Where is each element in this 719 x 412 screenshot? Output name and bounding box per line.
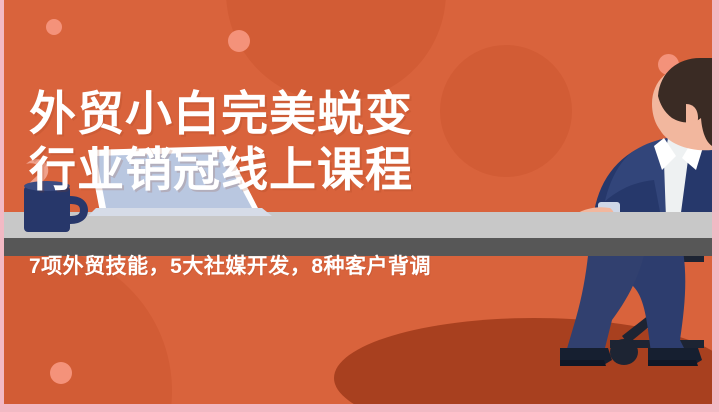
figure-shirt [664, 138, 694, 220]
course-promo-banner: 外贸小白完美蜕变 行业销冠线上课程 7项外贸技能，5大社媒开发，8种客户背调 [0, 0, 719, 412]
accent-dot-top-mid [228, 30, 250, 52]
accent-dot-bottom-left [50, 362, 72, 384]
headline-line-2: 行业销冠线上课程 [29, 142, 569, 198]
accent-dot-top-left [46, 19, 62, 35]
banner-canvas: 外贸小白完美蜕变 行业销冠线上课程 7项外贸技能，5大社媒开发，8种客户背调 [4, 0, 712, 404]
banner-text-block: 外贸小白完美蜕变 行业销冠线上课程 7项外贸技能，5大社媒开发，8种客户背调 [29, 86, 569, 280]
figure-collar-left-icon [654, 138, 676, 170]
figure-cuff-icon [598, 202, 620, 218]
figure-blazer-shade [600, 138, 668, 236]
chair-seat-icon [654, 226, 704, 262]
accent-dot-top-right [658, 54, 679, 75]
figure-hands [574, 207, 614, 226]
figure-head [652, 66, 712, 150]
subheadline: 7项外贸技能，5大社媒开发，8种客户背调 [29, 250, 569, 280]
figure-ear-icon [686, 104, 698, 129]
headline-line-1: 外贸小白完美蜕变 [29, 86, 569, 142]
figure-finger-lines [582, 218, 608, 220]
floor-shadow-ellipse [334, 318, 712, 404]
figure-arm [600, 180, 660, 230]
chair-post-icon [656, 240, 672, 340]
figure-collar-right-icon [682, 138, 704, 170]
figure-blazer [592, 136, 712, 236]
